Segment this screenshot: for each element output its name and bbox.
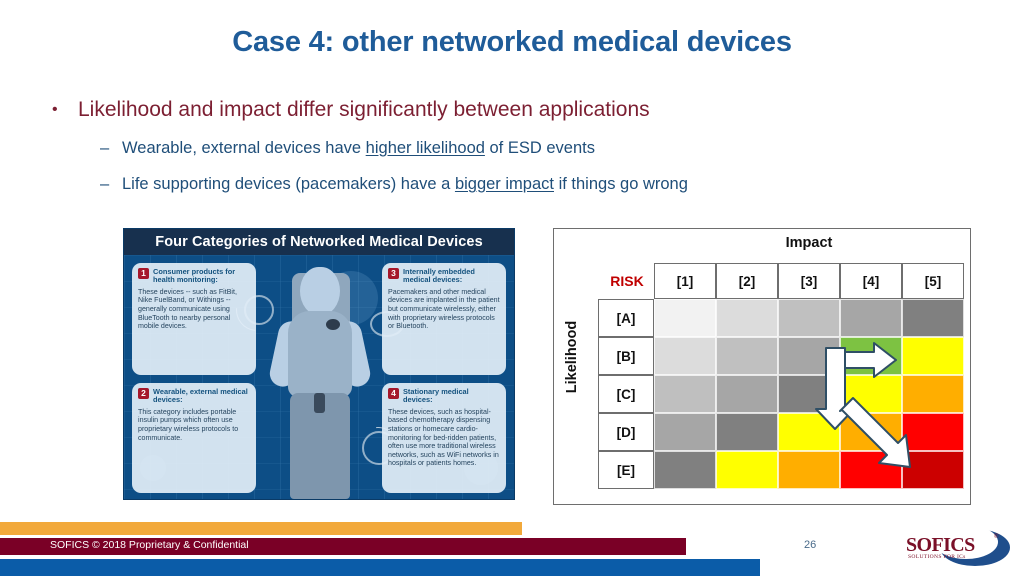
- matrix-cell-D4: [840, 413, 902, 451]
- matrix-cell-A2: [716, 299, 778, 337]
- panel-4-title: Stationary medical devices:: [403, 388, 500, 405]
- matrix-row-header-D: [D]: [598, 413, 654, 451]
- panel-number-badge: 4: [388, 388, 399, 399]
- infographic-panel-1: 1Consumer products for health monitoring…: [132, 263, 256, 375]
- matrix-col-header-1: [1]: [654, 263, 716, 299]
- bullet-marker-icon: •: [52, 96, 78, 124]
- risk-matrix: Impact RISK Likelihood [1][2][3][4][5] […: [553, 228, 971, 505]
- matrix-row: [A]: [598, 299, 964, 337]
- bullet-level2-2-text: Life supporting devices (pacemakers) hav…: [122, 172, 688, 196]
- page-title: Case 4: other networked medical devices: [0, 26, 1024, 59]
- panel-1-title: Consumer products for health monitoring:: [153, 268, 250, 285]
- dash-marker-icon: –: [100, 172, 122, 196]
- matrix-cell-C1: [654, 375, 716, 413]
- infographic-heading: Four Categories of Networked Medical Dev…: [124, 229, 514, 255]
- panel-number-badge: 3: [388, 268, 399, 279]
- matrix-cell-D2: [716, 413, 778, 451]
- panel-2-title: Wearable, external medical devices:: [153, 388, 250, 405]
- matrix-cell-C5: [902, 375, 964, 413]
- matrix-cell-B3: [778, 337, 840, 375]
- bullet-level1-text: Likelihood and impact differ significant…: [78, 96, 650, 124]
- matrix-cell-E3: [778, 451, 840, 489]
- matrix-body: [A][B][C][D][E]: [598, 299, 964, 489]
- panel-2-body: This category includes portable insulin …: [138, 408, 250, 442]
- matrix-col-header-4: [4]: [840, 263, 902, 299]
- matrix-row-header-A: [A]: [598, 299, 654, 337]
- matrix-row-header-B: [B]: [598, 337, 654, 375]
- footer-bar-orange: [0, 522, 522, 535]
- infographic-image: Four Categories of Networked Medical Dev…: [123, 228, 515, 500]
- person-silhouette-illustration: [272, 265, 368, 499]
- logo-tagline: SOLUTIONS FOR ICs: [908, 554, 966, 560]
- matrix-row-header-C: [C]: [598, 375, 654, 413]
- matrix-cell-D3: [778, 413, 840, 451]
- panel-3-title: Internally embedded medical devices:: [403, 268, 500, 285]
- matrix-row: [E]: [598, 451, 964, 489]
- footer-bar-maroon: SOFICS © 2018 Proprietary & Confidential: [0, 538, 686, 555]
- infographic-body: 1Consumer products for health monitoring…: [124, 255, 514, 499]
- emphasis-higher-likelihood: higher likelihood: [366, 139, 485, 157]
- panel-4-body: These devices, such as hospital-based ch…: [388, 408, 500, 468]
- infographic-panel-3: 3Internally embedded medical devices: Pa…: [382, 263, 506, 375]
- matrix-cell-C3: [778, 375, 840, 413]
- logo-registered-mark: ®: [994, 534, 998, 540]
- matrix-cell-B4: [840, 337, 902, 375]
- footer-bar-blue: [0, 559, 760, 576]
- page-number: 26: [804, 539, 816, 551]
- implanted-device-icon: [326, 319, 340, 330]
- bullet-list: • Likelihood and impact differ significa…: [52, 96, 882, 196]
- matrix-cell-D5: [902, 413, 964, 451]
- panel-1-body: These devices -- such as FitBit, Nike Fu…: [138, 288, 250, 331]
- panel-number-badge: 1: [138, 268, 149, 279]
- infographic-panel-4: 4Stationary medical devices: These devic…: [382, 383, 506, 493]
- dash-marker-icon: –: [100, 136, 122, 160]
- bullet-level2-1-text: Wearable, external devices have higher l…: [122, 136, 595, 160]
- panel-3-body: Pacemakers and other medical devices are…: [388, 288, 500, 331]
- likelihood-axis-label: Likelihood: [564, 297, 580, 417]
- matrix-cell-B1: [654, 337, 716, 375]
- sofics-logo: SOFICS ® SOLUTIONS FOR ICs: [906, 528, 1010, 568]
- matrix-cell-C2: [716, 375, 778, 413]
- bullet-level2-1: – Wearable, external devices have higher…: [100, 136, 882, 160]
- matrix-cell-C4: [840, 375, 902, 413]
- matrix-column-headers: [1][2][3][4][5]: [654, 263, 964, 299]
- impact-axis-label: Impact: [654, 235, 964, 251]
- matrix-col-header-2: [2]: [716, 263, 778, 299]
- matrix-cell-B5: [902, 337, 964, 375]
- matrix-col-header-5: [5]: [902, 263, 964, 299]
- bullet-level2-2: – Life supporting devices (pacemakers) h…: [100, 172, 882, 196]
- matrix-row-header-E: [E]: [598, 451, 654, 489]
- matrix-row: [D]: [598, 413, 964, 451]
- matrix-col-header-3: [3]: [778, 263, 840, 299]
- insulin-pump-icon: [314, 393, 325, 413]
- matrix-cell-E5: [902, 451, 964, 489]
- matrix-cell-E4: [840, 451, 902, 489]
- matrix-row: [C]: [598, 375, 964, 413]
- copyright-text: SOFICS © 2018 Proprietary & Confidential: [50, 539, 249, 551]
- emphasis-bigger-impact: bigger impact: [455, 175, 554, 193]
- matrix-cell-D1: [654, 413, 716, 451]
- matrix-cell-E1: [654, 451, 716, 489]
- matrix-cell-A5: [902, 299, 964, 337]
- matrix-cell-B2: [716, 337, 778, 375]
- panel-number-badge: 2: [138, 388, 149, 399]
- infographic-panel-2: 2Wearable, external medical devices: Thi…: [132, 383, 256, 493]
- risk-label: RISK: [598, 273, 656, 289]
- matrix-cell-E2: [716, 451, 778, 489]
- matrix-row: [B]: [598, 337, 964, 375]
- matrix-cell-A1: [654, 299, 716, 337]
- matrix-cell-A4: [840, 299, 902, 337]
- bullet-level1: • Likelihood and impact differ significa…: [52, 96, 882, 124]
- matrix-cell-A3: [778, 299, 840, 337]
